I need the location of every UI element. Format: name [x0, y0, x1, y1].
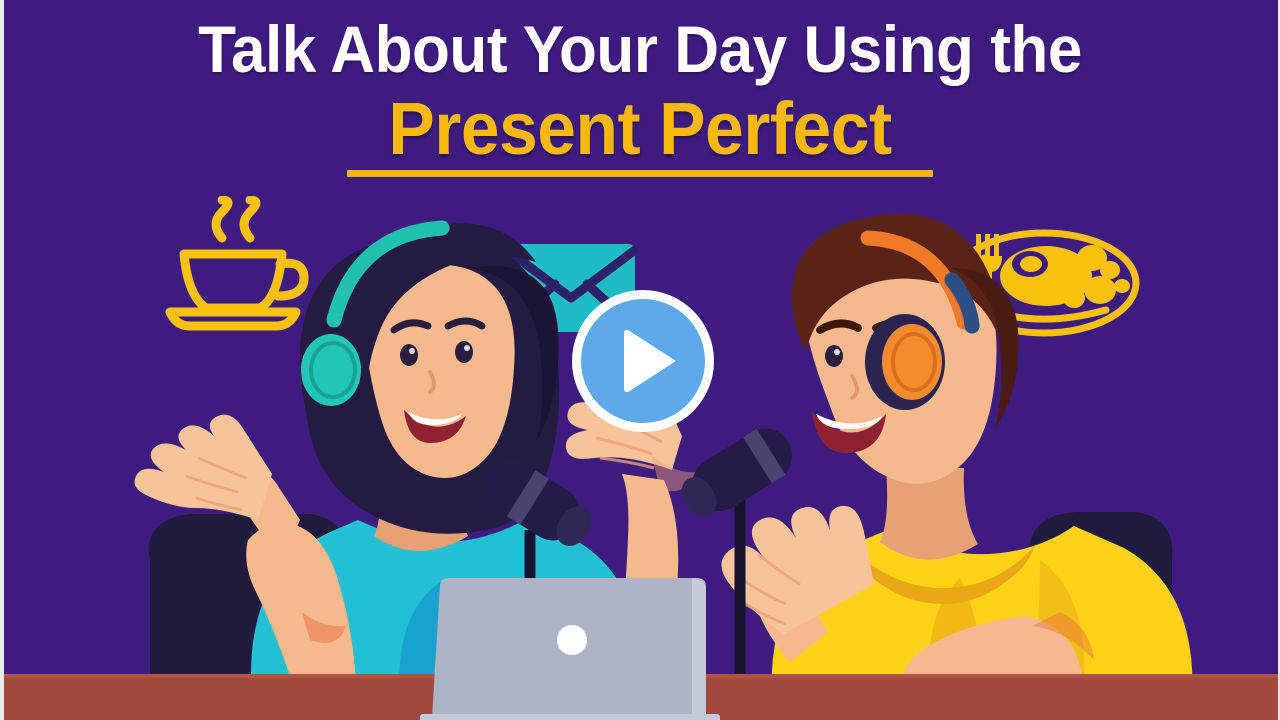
play-button[interactable] [568, 286, 718, 436]
title-line-2-wrap: Present Perfect [347, 90, 933, 177]
laptop-logo [557, 625, 587, 655]
title-line-2: Present Perfect [365, 90, 916, 168]
title-line-1: Talk About Your Day Using the [38, 14, 1241, 84]
laptop [420, 578, 720, 720]
title-underline [347, 170, 933, 177]
title-block: Talk About Your Day Using the Present Pe… [0, 14, 1280, 177]
left-border [0, 0, 4, 720]
thumbnail-canvas: Talk About Your Day Using the Present Pe… [0, 0, 1280, 720]
